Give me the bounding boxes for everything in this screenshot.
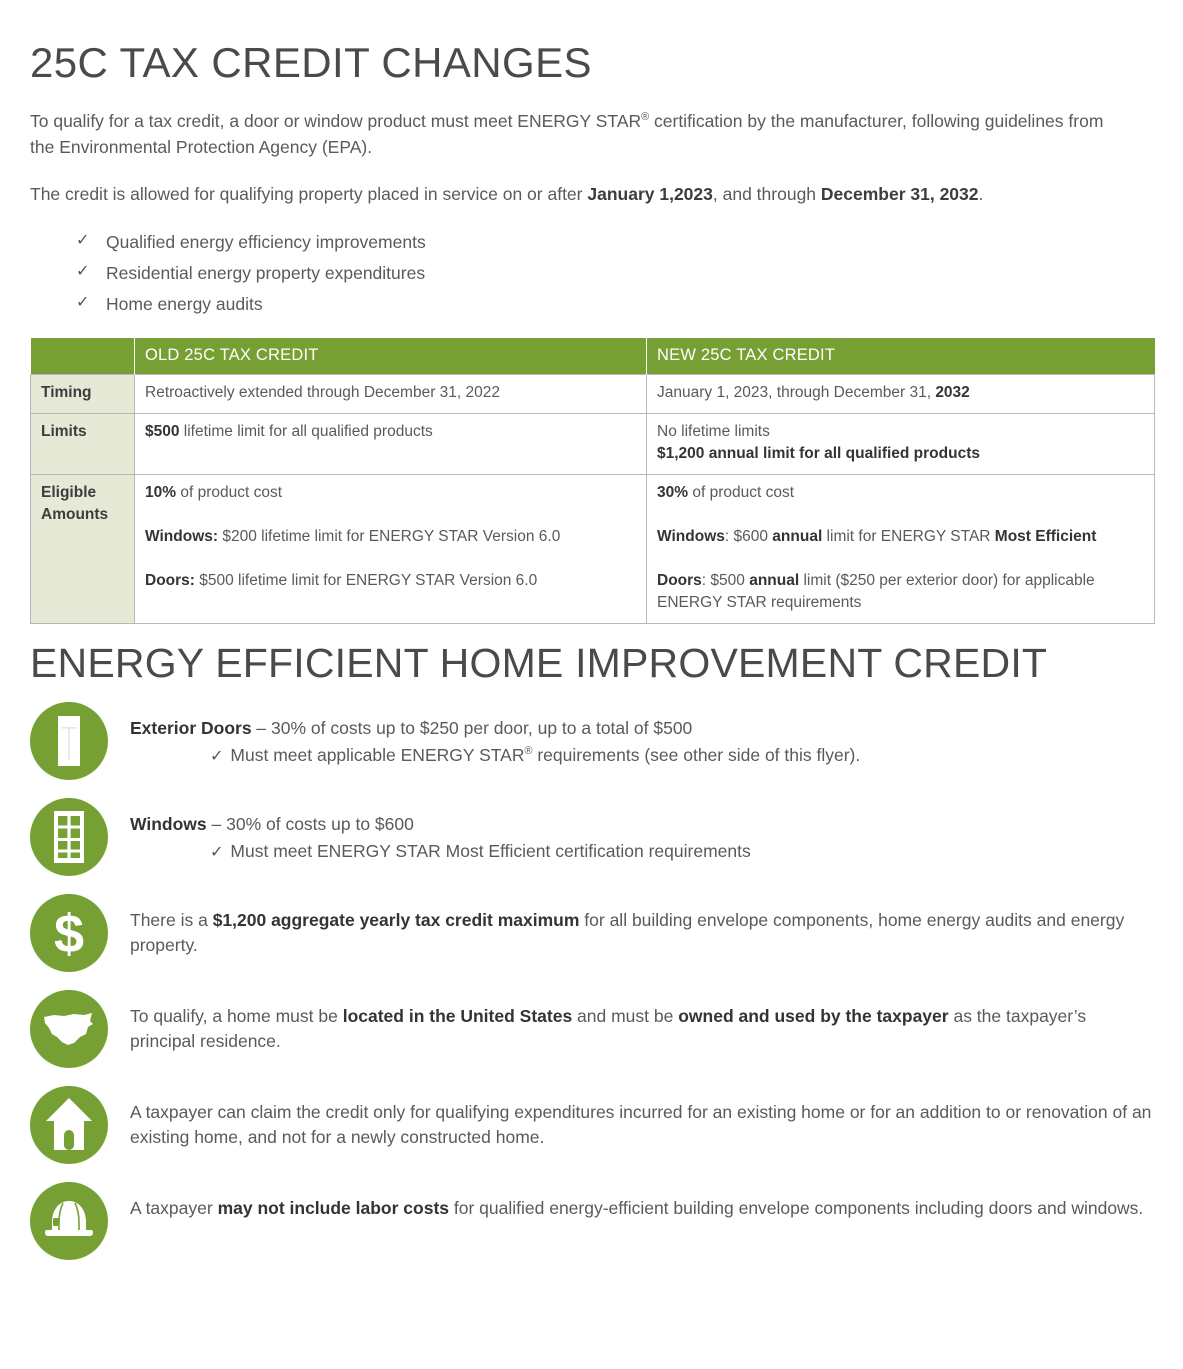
benefit-text: A taxpayer can claim the credit only for… (130, 1084, 1153, 1151)
intro-paragraph-1: To qualify for a tax credit, a door or w… (30, 108, 1120, 161)
cell-limits-old-text: lifetime limit for all qualified product… (179, 423, 432, 440)
intro-p2-a: The credit is allowed for qualifying pro… (30, 184, 587, 204)
benefit-title-exterior-doors: Exterior Doors (130, 718, 252, 738)
door-icon (30, 702, 108, 780)
benefit-row-exterior-doors: Exterior Doors – 30% of costs up to $250… (30, 700, 1153, 780)
svg-text:$: $ (54, 904, 84, 964)
old-doors-label: Doors: (145, 572, 195, 589)
cell-limits-old-amount: $500 (145, 423, 179, 440)
benefit-text: Windows – 30% of costs up to $600 ✓Must … (130, 796, 1153, 865)
benefit-text: Exterior Doors – 30% of costs up to $250… (130, 700, 1153, 769)
table-header-old: OLD 25C TAX CREDIT (135, 338, 647, 375)
old-doors-text: $500 lifetime limit for ENERGY STAR Vers… (195, 572, 537, 589)
intro-p2-c: . (979, 184, 984, 204)
benefit-row-united-states: To qualify, a home must be located in th… (30, 988, 1153, 1068)
benefit-text: To qualify, a home must be located in th… (130, 988, 1153, 1055)
page-title: 25C TAX CREDIT CHANGES (30, 0, 1153, 86)
home-icon (30, 1086, 108, 1164)
new-doors-mid1: : $500 (702, 572, 749, 589)
new-windows-label: Windows (657, 528, 725, 545)
benefit-bold-labor: may not include labor costs (218, 1198, 449, 1218)
intro-date-start: January 1,2023 (587, 184, 713, 204)
new-windows-mid1: : $600 (725, 528, 772, 545)
subnote-a: Must meet applicable ENERGY STAR (230, 745, 524, 765)
check-icon: ✓ (76, 258, 89, 286)
list-item-label: Home energy audits (106, 294, 263, 314)
intro-p1-a: To qualify for a tax credit, a door or w… (30, 111, 641, 131)
check-icon: ✓ (210, 748, 223, 765)
cell-timing-new-text: January 1, 2023, through December 31, (657, 384, 935, 401)
check-icon: ✓ (76, 227, 89, 255)
spacer (657, 504, 1144, 526)
list-item-label: Residential energy property expenditures (106, 263, 425, 283)
new-percent: 30% (657, 484, 688, 501)
section-title-eehic: ENERGY EFFICIENT HOME IMPROVEMENT CREDIT (30, 624, 1153, 697)
registered-mark-icon: ® (641, 111, 649, 123)
new-windows-mid2: limit for ENERGY STAR (822, 528, 995, 545)
qualifying-checklist: ✓Qualified energy efficiency improvement… (30, 227, 1153, 320)
icon-wrap (30, 798, 108, 876)
benefit-row-aggregate-maximum: $ There is a $1,200 aggregate yearly tax… (30, 892, 1153, 972)
cell-timing-new: January 1, 2023, through December 31, 20… (647, 375, 1155, 414)
new-windows-annual: annual (772, 528, 822, 545)
cell-limits-old: $500 lifetime limit for all qualified pr… (135, 414, 647, 475)
icon-wrap (30, 702, 108, 780)
table-row-timing: Timing Retroactively extended through De… (31, 375, 1155, 414)
cell-limits-new-line2: $1,200 annual limit for all qualified pr… (657, 445, 980, 462)
row-label-limits: Limits (31, 414, 135, 475)
icon-wrap (30, 1182, 108, 1260)
usa-map-icon (30, 990, 108, 1068)
benefit-text: There is a $1,200 aggregate yearly tax c… (130, 892, 1153, 959)
benefit-desc-windows: – 30% of costs up to $600 (207, 814, 414, 834)
benefit-desc-exterior-doors: – 30% of costs up to $250 per door, up t… (252, 718, 693, 738)
list-item: ✓Qualified energy efficiency improvement… (76, 227, 1153, 258)
row-label-line2: Amounts (41, 504, 124, 526)
benefit-mid-us: and must be (572, 1006, 678, 1026)
new-doors-label: Doors (657, 572, 702, 589)
list-item: ✓Home energy audits (76, 289, 1153, 320)
subnote-b: requirements (see other side of this fly… (532, 745, 860, 765)
intro-p2-b: , and through (713, 184, 821, 204)
table-row-limits: Limits $500 lifetime limit for all quali… (31, 414, 1155, 475)
icon-wrap (30, 990, 108, 1068)
benefit-row-existing-home: A taxpayer can claim the credit only for… (30, 1084, 1153, 1164)
old-percent: 10% (145, 484, 176, 501)
intro-paragraph-2: The credit is allowed for qualifying pro… (30, 181, 1120, 207)
table-header-row: OLD 25C TAX CREDIT NEW 25C TAX CREDIT (31, 338, 1155, 375)
list-item-label: Qualified energy efficiency improvements (106, 232, 426, 252)
new-doors-annual: annual (749, 572, 799, 589)
table-header-blank (31, 338, 135, 375)
cell-timing-new-year: 2032 (935, 384, 969, 401)
benefit-pre-labor: A taxpayer (130, 1198, 218, 1218)
old-windows-text: $200 lifetime limit for ENERGY STAR Vers… (218, 528, 560, 545)
cell-eligible-new: 30% of product cost Windows: $600 annual… (647, 475, 1155, 624)
icon-wrap: $ (30, 894, 108, 972)
row-label-line1: Eligible (41, 482, 124, 504)
benefit-title-windows: Windows (130, 814, 207, 834)
new-percent-rest: of product cost (688, 484, 794, 501)
benefit-subnote-exterior-doors: ✓Must meet applicable ENERGY STAR® requi… (130, 743, 1153, 768)
benefits-list: Exterior Doors – 30% of costs up to $250… (30, 700, 1153, 1260)
benefit-pre-us: To qualify, a home must be (130, 1006, 343, 1026)
hard-hat-icon (30, 1182, 108, 1260)
flyer-page: 25C TAX CREDIT CHANGES To qualify for a … (0, 0, 1183, 1369)
row-label-timing: Timing (31, 375, 135, 414)
benefit-rest-labor: for qualified energy-efficient building … (449, 1198, 1143, 1218)
cell-timing-old: Retroactively extended through December … (135, 375, 647, 414)
spacer (145, 548, 636, 570)
icon-wrap (30, 1086, 108, 1164)
benefit-row-windows: Windows – 30% of costs up to $600 ✓Must … (30, 796, 1153, 876)
intro-date-end: December 31, 2032 (821, 184, 979, 204)
cell-limits-new-line1: No lifetime limits (657, 421, 1144, 443)
intro-section: To qualify for a tax credit, a door or w… (30, 108, 1120, 207)
table-row-eligible-amounts: Eligible Amounts 10% of product cost Win… (31, 475, 1155, 624)
subnote-a: Must meet ENERGY STAR Most Efficient cer… (230, 841, 750, 861)
benefit-row-labor-costs: A taxpayer may not include labor costs f… (30, 1180, 1153, 1260)
benefit-text: A taxpayer may not include labor costs f… (130, 1180, 1153, 1221)
cell-eligible-old: 10% of product cost Windows: $200 lifeti… (135, 475, 647, 624)
dollar-icon: $ (30, 894, 108, 972)
benefit-text-existing-home: A taxpayer can claim the credit only for… (130, 1102, 1151, 1147)
row-label-eligible-amounts: Eligible Amounts (31, 475, 135, 624)
check-icon: ✓ (210, 844, 223, 861)
check-icon: ✓ (76, 289, 89, 317)
benefit-bold-aggregate: $1,200 aggregate yearly tax credit maxim… (213, 910, 580, 930)
list-item: ✓Residential energy property expenditure… (76, 258, 1153, 289)
benefit-bold-owned-used: owned and used by the taxpayer (678, 1006, 948, 1026)
benefit-bold-located-us: located in the United States (343, 1006, 572, 1026)
window-icon (30, 798, 108, 876)
old-windows-label: Windows: (145, 528, 218, 545)
table-header-new: NEW 25C TAX CREDIT (647, 338, 1155, 375)
benefit-pre-aggregate: There is a (130, 910, 213, 930)
cell-limits-new: No lifetime limits $1,200 annual limit f… (647, 414, 1155, 475)
tax-credit-comparison-table: OLD 25C TAX CREDIT NEW 25C TAX CREDIT Ti… (30, 338, 1155, 624)
new-windows-most-efficient: Most Efficient (995, 528, 1097, 545)
benefit-subnote-windows: ✓Must meet ENERGY STAR Most Efficient ce… (130, 839, 1153, 864)
old-percent-rest: of product cost (176, 484, 282, 501)
spacer (145, 504, 636, 526)
spacer (657, 548, 1144, 570)
